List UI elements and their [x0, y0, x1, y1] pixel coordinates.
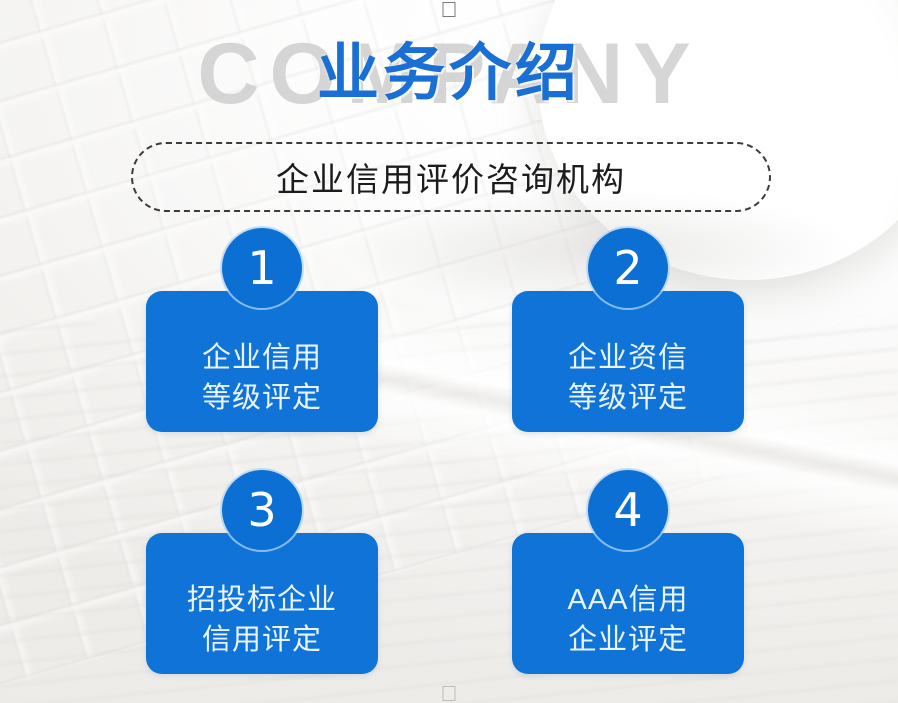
- service-card-line1: 企业信用: [202, 338, 322, 378]
- service-card-line1: 企业资信: [568, 338, 688, 378]
- badge-number: 2: [613, 245, 642, 291]
- badge-number: 4: [613, 487, 642, 533]
- badge-circle-4: 4: [588, 470, 668, 550]
- service-card-body-1[interactable]: 企业信用 等级评定: [146, 291, 378, 432]
- service-card-line1: AAA信用: [567, 580, 688, 620]
- service-card-body-2[interactable]: 企业资信 等级评定: [512, 291, 744, 432]
- service-card-line2: 等级评定: [202, 378, 322, 418]
- service-card-line2: 企业评定: [568, 620, 688, 660]
- page-title: 业务介绍: [0, 28, 898, 120]
- service-card-body-4[interactable]: AAA信用 企业评定: [512, 533, 744, 674]
- service-card-line2: 信用评定: [202, 620, 322, 660]
- badge-number: 3: [247, 487, 276, 533]
- service-card-line2: 等级评定: [568, 378, 688, 418]
- bottom-marker-glyph: [443, 686, 456, 701]
- subtitle-text: 企业信用评价咨询机构: [276, 153, 626, 201]
- service-card-body-3[interactable]: 招投标企业 信用评定: [146, 533, 378, 674]
- top-marker-glyph: [443, 2, 456, 17]
- badge-circle-2: 2: [588, 228, 668, 308]
- header: COMPANY 业务介绍: [0, 18, 898, 126]
- badge-circle-3: 3: [222, 470, 302, 550]
- subtitle-pill: 企业信用评价咨询机构: [131, 142, 771, 212]
- service-card-line1: 招投标企业: [187, 580, 337, 620]
- badge-number: 1: [247, 245, 276, 291]
- badge-circle-1: 1: [222, 228, 302, 308]
- service-card-grid: 1 企业信用 等级评定 2 企业资信 等级评定 3 招投标企业 信用评定: [0, 228, 898, 688]
- business-introduction-poster: COMPANY 业务介绍 企业信用评价咨询机构 1 企业信用 等级评定 2 企业…: [0, 0, 898, 703]
